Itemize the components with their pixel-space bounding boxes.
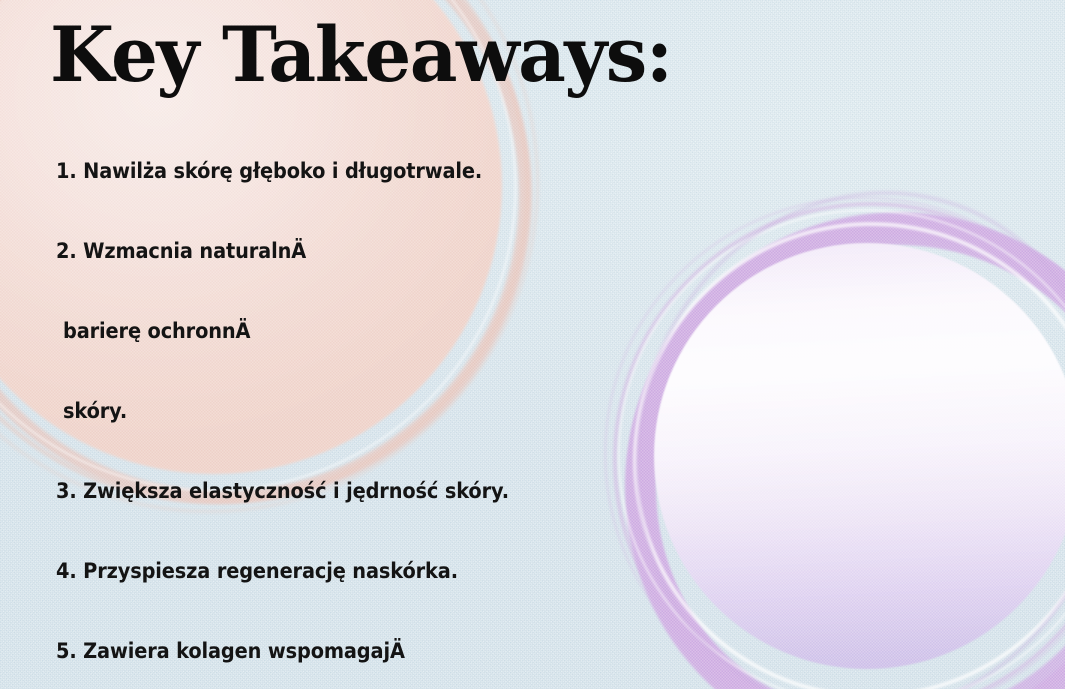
poster-content: Key Takeaways: 1. Nawilża skórę głęboko … (0, 0, 1065, 689)
takeaway-line: 5. Zawiera kolagen wspomagajÄ (56, 640, 405, 664)
takeaway-line: skóry. (63, 400, 127, 424)
takeaway-line: 1. Nawilża skórę głęboko i długotrwale. (56, 160, 482, 184)
page-title: Key Takeaways: (50, 17, 672, 93)
takeaway-line: barierę ochronnÄ (63, 320, 250, 344)
takeaway-line: 3. Zwiększa elastyczność i jędrność skór… (56, 480, 509, 504)
poster-canvas: Key Takeaways: 1. Nawilża skórę głęboko … (0, 0, 1065, 689)
takeaway-line: 4. Przyspiesza regenerację naskórka. (56, 560, 458, 584)
takeaway-line: 2. Wzmacnia naturalnÄ (56, 240, 306, 264)
